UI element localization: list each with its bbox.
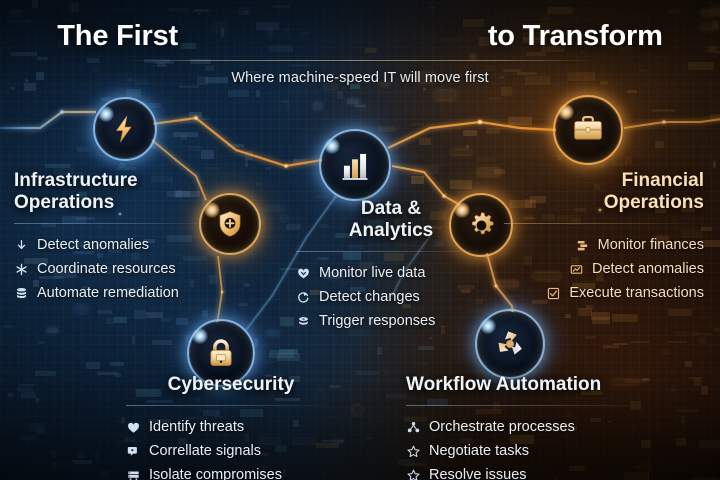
domain-title: Infrastructure Operations [14, 170, 219, 214]
page-subtitle: Where machine-speed IT will move first [0, 70, 720, 86]
domain-title: Data & Analytics [296, 198, 486, 242]
list-item-label: Resolve issues [429, 468, 527, 480]
down-arrow-icon [14, 238, 29, 253]
refresh-circle-icon [296, 290, 311, 305]
domain-title-line2: Operations [14, 192, 114, 213]
domain-workflow-automation: Workflow Automation Orchestrate processe… [406, 374, 646, 480]
node-financial-operations[interactable] [556, 98, 620, 162]
domain-divider [504, 223, 704, 224]
padlock-icon [205, 337, 237, 369]
list-item-label: Isolate compromises [149, 468, 282, 480]
disc-stack-icon [296, 314, 311, 329]
star-outline-icon [406, 468, 421, 480]
shield-plus-icon [215, 209, 245, 239]
list-item: Coordinate resources [14, 257, 219, 281]
asterisk-icon [14, 262, 29, 277]
list-item: Detect anomalies [14, 233, 219, 257]
header-block: The First 5 Enterprise Domains to Transf… [0, 20, 720, 86]
shield-heart-icon [126, 420, 141, 435]
list-item: Detect anomalies [504, 257, 704, 281]
list-item-label: Monitor finances [598, 238, 704, 253]
domain-bullet-list: Orchestrate processes Negotiate tasks Re… [406, 415, 646, 480]
page-title-plain: The First [57, 20, 186, 52]
bar-chart-icon [338, 148, 372, 182]
list-item-label: Execute transactions [569, 286, 704, 301]
list-item: Negotiate tasks [406, 439, 646, 463]
infographic-canvas: The First 5 Enterprise Domains to Transf… [0, 0, 720, 480]
page-title-plain: to Transform [480, 20, 663, 52]
list-item: Automate remediation [14, 281, 219, 305]
node-infrastructure-operations[interactable] [96, 100, 154, 158]
recycle-arrows-icon [492, 326, 528, 362]
list-item-label: Negotiate tasks [429, 444, 529, 459]
list-item: Correllate signals [126, 439, 336, 463]
list-item: Isolate compromises [126, 463, 336, 480]
domain-divider [296, 251, 486, 252]
list-item: Monitor finances [504, 233, 704, 257]
domain-title: Cybersecurity [126, 374, 336, 396]
domain-title-line1: Data & [361, 198, 421, 219]
star-outline-icon [406, 444, 421, 459]
domain-title-line2: Analytics [349, 220, 433, 241]
node-data-analytics[interactable] [322, 132, 388, 198]
checkbox-icon [546, 286, 561, 301]
page-title: The First 5 Enterprise Domains to Transf… [0, 20, 720, 53]
domain-bullet-list: Monitor finances Detect anomalies Execut… [504, 233, 704, 305]
page-title-accent: 5 Enterprise Domains [186, 20, 480, 52]
bar-levels-icon [575, 238, 590, 253]
list-item: Detect changes [296, 285, 486, 309]
list-item-label: Detect changes [319, 290, 420, 305]
list-item-label: Automate remediation [37, 286, 179, 301]
list-item-label: Monitor live data [319, 266, 425, 281]
list-item: Trigger responses [296, 309, 486, 333]
domain-title-line1: Workflow Automation [406, 374, 601, 395]
framed-chart-icon [569, 262, 584, 277]
briefcase-icon [571, 113, 605, 147]
title-divider [125, 60, 595, 61]
list-item: Resolve issues [406, 463, 646, 480]
list-item-label: Correllate signals [149, 444, 261, 459]
domain-data-analytics: Data & Analytics Monitor live data Detec… [296, 198, 486, 333]
domain-bullet-list: Identify threats Correllate signals Isol… [126, 415, 336, 480]
network-node-icon [406, 420, 421, 435]
domain-title: Financial Operations [504, 170, 704, 214]
domain-bullet-list: Monitor live data Detect changes Trigger… [296, 261, 486, 333]
domain-infrastructure-operations: Infrastructure Operations Detect anomali… [14, 170, 219, 305]
domain-title-line1: Cybersecurity [168, 374, 295, 395]
domain-title-line2: Operations [604, 192, 704, 213]
domain-title: Workflow Automation [406, 374, 646, 396]
domain-divider [406, 405, 646, 406]
list-item-label: Identify threats [149, 420, 244, 435]
list-item-label: Detect anomalies [592, 262, 704, 277]
signal-node-icon [126, 444, 141, 459]
domain-divider [126, 405, 336, 406]
domain-bullet-list: Detect anomalies Coordinate resources Au… [14, 233, 219, 305]
node-workflow-automation[interactable] [478, 312, 542, 376]
domain-financial-operations: Financial Operations Monitor finances De… [504, 170, 704, 305]
list-item: Identify threats [126, 415, 336, 439]
domain-cybersecurity: Cybersecurity Identify threats Correllat… [126, 374, 336, 480]
domain-title-line1: Infrastructure [14, 170, 138, 191]
heart-shield-icon [296, 266, 311, 281]
list-item-label: Detect anomalies [37, 238, 149, 253]
domain-title-line1: Financial [622, 170, 704, 191]
list-item: Execute transactions [504, 281, 704, 305]
domain-divider [14, 223, 219, 224]
list-item-label: Coordinate resources [37, 262, 176, 277]
list-item: Orchestrate processes [406, 415, 646, 439]
list-item-label: Trigger responses [319, 314, 435, 329]
database-stack-icon [14, 286, 29, 301]
list-item: Monitor live data [296, 261, 486, 285]
server-rack-icon [126, 468, 141, 480]
lightning-bolt-icon [110, 114, 140, 144]
list-item-label: Orchestrate processes [429, 420, 575, 435]
